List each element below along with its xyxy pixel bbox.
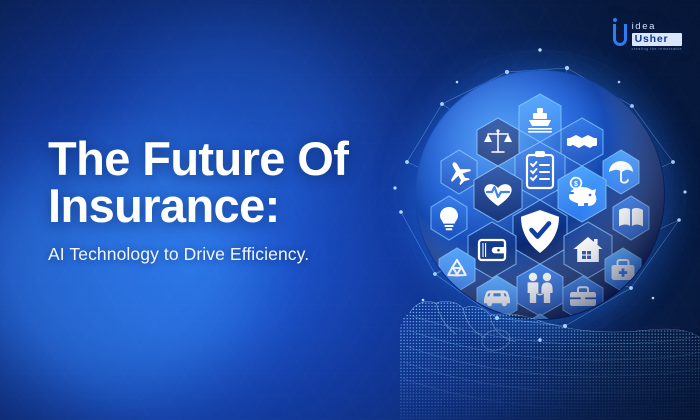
logo-tagline: creating the remarkable — [632, 48, 682, 52]
wireframe-hand-icon — [400, 268, 700, 420]
page-subtitle: AI Technology to Drive Efficiency. — [48, 244, 348, 265]
logo-cup-shape — [613, 24, 627, 46]
logo-u-mark-icon — [613, 18, 628, 48]
page-title: The Future Of Insurance: — [48, 136, 348, 229]
logo-word-usher: Usher — [635, 34, 679, 45]
brand-logo[interactable]: Idea Usher creating the remarkable — [613, 18, 682, 52]
logo-dot-icon — [613, 18, 617, 22]
hero-banner: $ — [0, 0, 700, 420]
hero-copy-block: The Future Of Insurance: AI Technology t… — [48, 136, 348, 265]
logo-wordmark: Idea Usher creating the remarkable — [632, 18, 682, 52]
logo-word-usher-badge: Usher — [632, 33, 682, 46]
logo-word-idea: Idea — [632, 22, 682, 32]
